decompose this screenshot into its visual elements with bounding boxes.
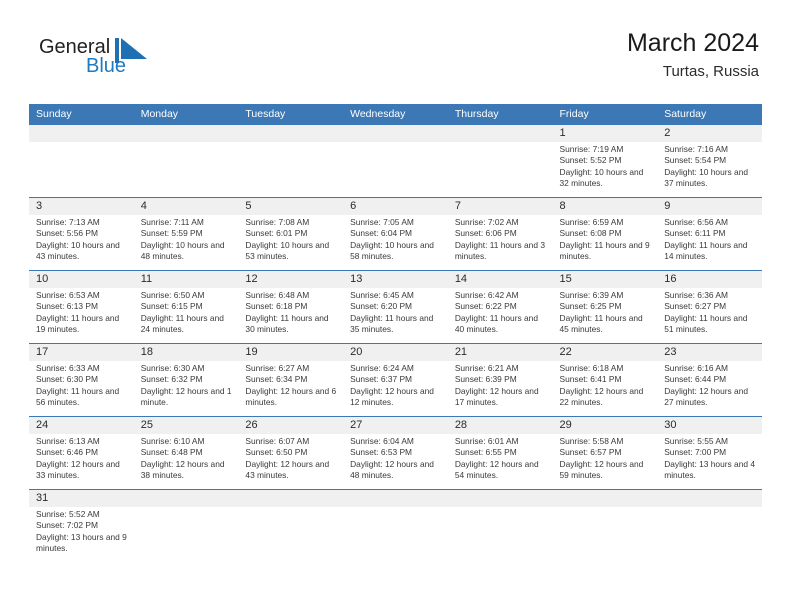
weekday-header-thursday: Thursday — [448, 104, 553, 125]
triangle-flag-icon — [115, 38, 151, 63]
day-cell-30: Sunrise: 5:55 AMSunset: 7:00 PMDaylight:… — [657, 434, 762, 489]
day-number-7[interactable]: 7 — [448, 198, 553, 215]
sunset-text: Sunset: 6:34 PM — [245, 374, 338, 385]
daylight-text: Daylight: 11 hours and 24 minutes. — [141, 313, 234, 336]
day-number-1[interactable]: 1 — [553, 125, 658, 142]
day-cell-24: Sunrise: 6:13 AMSunset: 6:46 PMDaylight:… — [29, 434, 134, 489]
day-detail-band: Sunrise: 6:53 AMSunset: 6:13 PMDaylight:… — [29, 288, 762, 343]
day-number-13[interactable]: 13 — [343, 271, 448, 288]
daylight-text: Daylight: 13 hours and 4 minutes. — [664, 459, 757, 482]
calendar-week-row: 12Sunrise: 7:19 AMSunset: 5:52 PMDayligh… — [29, 125, 762, 197]
day-cell-15: Sunrise: 6:39 AMSunset: 6:25 PMDaylight:… — [553, 288, 658, 343]
sunrise-text: Sunrise: 6:53 AM — [36, 290, 129, 301]
sunrise-text: Sunrise: 6:42 AM — [455, 290, 548, 301]
sunset-text: Sunset: 6:13 PM — [36, 301, 129, 312]
daylight-text: Daylight: 12 hours and 33 minutes. — [36, 459, 129, 482]
calendar-weeks: 12Sunrise: 7:19 AMSunset: 5:52 PMDayligh… — [29, 125, 762, 562]
daylight-text: Daylight: 12 hours and 48 minutes. — [350, 459, 443, 482]
day-cell-13: Sunrise: 6:45 AMSunset: 6:20 PMDaylight:… — [343, 288, 448, 343]
day-number-band: 10111213141516 — [29, 271, 762, 288]
day-cell-28: Sunrise: 6:01 AMSunset: 6:55 PMDaylight:… — [448, 434, 553, 489]
sunrise-text: Sunrise: 6:36 AM — [664, 290, 757, 301]
daylight-text: Daylight: 11 hours and 45 minutes. — [560, 313, 653, 336]
daylight-text: Daylight: 11 hours and 51 minutes. — [664, 313, 757, 336]
sunrise-text: Sunrise: 6:30 AM — [141, 363, 234, 374]
daylight-text: Daylight: 12 hours and 38 minutes. — [141, 459, 234, 482]
daylight-text: Daylight: 11 hours and 40 minutes. — [455, 313, 548, 336]
day-detail-band: Sunrise: 6:33 AMSunset: 6:30 PMDaylight:… — [29, 361, 762, 416]
daylight-text: Daylight: 13 hours and 9 minutes. — [36, 532, 129, 555]
daylight-text: Daylight: 11 hours and 19 minutes. — [36, 313, 129, 336]
day-cell-1: Sunrise: 7:19 AMSunset: 5:52 PMDaylight:… — [553, 142, 658, 197]
day-number-28[interactable]: 28 — [448, 417, 553, 434]
daylight-text: Daylight: 12 hours and 22 minutes. — [560, 386, 653, 409]
day-number-23[interactable]: 23 — [657, 344, 762, 361]
day-detail-band: Sunrise: 7:13 AMSunset: 5:56 PMDaylight:… — [29, 215, 762, 270]
location-label: Turtas, Russia — [627, 62, 759, 82]
day-cell-9: Sunrise: 6:56 AMSunset: 6:11 PMDaylight:… — [657, 215, 762, 270]
weekday-header-tuesday: Tuesday — [238, 104, 343, 125]
day-cell-25: Sunrise: 6:10 AMSunset: 6:48 PMDaylight:… — [134, 434, 239, 489]
day-number-11[interactable]: 11 — [134, 271, 239, 288]
day-number-22[interactable]: 22 — [553, 344, 658, 361]
weekday-header-sunday: Sunday — [29, 104, 134, 125]
calendar-grid: SundayMondayTuesdayWednesdayThursdayFrid… — [29, 104, 762, 562]
daylight-text: Daylight: 10 hours and 32 minutes. — [560, 167, 653, 190]
day-cell-19: Sunrise: 6:27 AMSunset: 6:34 PMDaylight:… — [238, 361, 343, 416]
day-cell-11: Sunrise: 6:50 AMSunset: 6:15 PMDaylight:… — [134, 288, 239, 343]
day-cell-26: Sunrise: 6:07 AMSunset: 6:50 PMDaylight:… — [238, 434, 343, 489]
sunset-text: Sunset: 6:20 PM — [350, 301, 443, 312]
sunset-text: Sunset: 6:50 PM — [245, 447, 338, 458]
day-number-3[interactable]: 3 — [29, 198, 134, 215]
day-cell-14: Sunrise: 6:42 AMSunset: 6:22 PMDaylight:… — [448, 288, 553, 343]
day-number-6[interactable]: 6 — [343, 198, 448, 215]
sunset-text: Sunset: 6:01 PM — [245, 228, 338, 239]
sunrise-text: Sunrise: 6:21 AM — [455, 363, 548, 374]
day-number-band: 12 — [29, 125, 762, 142]
daylight-text: Daylight: 11 hours and 3 minutes. — [455, 240, 548, 263]
sunset-text: Sunset: 6:11 PM — [664, 228, 757, 239]
page-header: General Blue March 2024 Turtas, Russia — [29, 28, 759, 96]
day-number-24[interactable]: 24 — [29, 417, 134, 434]
daylight-text: Daylight: 12 hours and 17 minutes. — [455, 386, 548, 409]
sunrise-text: Sunrise: 6:01 AM — [455, 436, 548, 447]
weekday-header-wednesday: Wednesday — [343, 104, 448, 125]
sunset-text: Sunset: 6:41 PM — [560, 374, 653, 385]
sunrise-text: Sunrise: 6:50 AM — [141, 290, 234, 301]
calendar-week-row: 10111213141516Sunrise: 6:53 AMSunset: 6:… — [29, 270, 762, 343]
day-number-19[interactable]: 19 — [238, 344, 343, 361]
sunset-text: Sunset: 5:52 PM — [560, 155, 653, 166]
day-cell-4: Sunrise: 7:11 AMSunset: 5:59 PMDaylight:… — [134, 215, 239, 270]
sunrise-text: Sunrise: 7:05 AM — [350, 217, 443, 228]
sunrise-text: Sunrise: 7:19 AM — [560, 144, 653, 155]
sunrise-text: Sunrise: 6:16 AM — [664, 363, 757, 374]
weekday-header-saturday: Saturday — [657, 104, 762, 125]
sunrise-text: Sunrise: 7:02 AM — [455, 217, 548, 228]
day-cell-27: Sunrise: 6:04 AMSunset: 6:53 PMDaylight:… — [343, 434, 448, 489]
day-number-2[interactable]: 2 — [657, 125, 762, 142]
daylight-text: Daylight: 12 hours and 12 minutes. — [350, 386, 443, 409]
daylight-text: Daylight: 12 hours and 59 minutes. — [560, 459, 653, 482]
day-cell-23: Sunrise: 6:16 AMSunset: 6:44 PMDaylight:… — [657, 361, 762, 416]
day-number-15[interactable]: 15 — [553, 271, 658, 288]
day-number-12[interactable]: 12 — [238, 271, 343, 288]
daylight-text: Daylight: 11 hours and 9 minutes. — [560, 240, 653, 263]
sunset-text: Sunset: 6:08 PM — [560, 228, 653, 239]
sunset-text: Sunset: 6:48 PM — [141, 447, 234, 458]
daylight-text: Daylight: 11 hours and 14 minutes. — [664, 240, 757, 263]
day-cell-18: Sunrise: 6:30 AMSunset: 6:32 PMDaylight:… — [134, 361, 239, 416]
day-number-27[interactable]: 27 — [343, 417, 448, 434]
day-number-18[interactable]: 18 — [134, 344, 239, 361]
daylight-text: Daylight: 11 hours and 56 minutes. — [36, 386, 129, 409]
sunset-text: Sunset: 5:54 PM — [664, 155, 757, 166]
sunset-text: Sunset: 6:37 PM — [350, 374, 443, 385]
daylight-text: Daylight: 10 hours and 37 minutes. — [664, 167, 757, 190]
day-cell-29: Sunrise: 5:58 AMSunset: 6:57 PMDaylight:… — [553, 434, 658, 489]
day-number-31[interactable]: 31 — [29, 490, 134, 507]
daylight-text: Daylight: 12 hours and 1 minute. — [141, 386, 234, 409]
day-cell-5: Sunrise: 7:08 AMSunset: 6:01 PMDaylight:… — [238, 215, 343, 270]
sunrise-text: Sunrise: 7:08 AM — [245, 217, 338, 228]
day-cell-22: Sunrise: 6:18 AMSunset: 6:41 PMDaylight:… — [553, 361, 658, 416]
sunset-text: Sunset: 5:56 PM — [36, 228, 129, 239]
sunset-text: Sunset: 6:27 PM — [664, 301, 757, 312]
day-cell-12: Sunrise: 6:48 AMSunset: 6:18 PMDaylight:… — [238, 288, 343, 343]
sunset-text: Sunset: 6:53 PM — [350, 447, 443, 458]
sunset-text: Sunset: 6:39 PM — [455, 374, 548, 385]
day-cell-3: Sunrise: 7:13 AMSunset: 5:56 PMDaylight:… — [29, 215, 134, 270]
daylight-text: Daylight: 11 hours and 30 minutes. — [245, 313, 338, 336]
day-number-5[interactable]: 5 — [238, 198, 343, 215]
day-number-band: 31 — [29, 490, 762, 507]
day-number-29[interactable]: 29 — [553, 417, 658, 434]
sunrise-text: Sunrise: 6:04 AM — [350, 436, 443, 447]
day-cell-8: Sunrise: 6:59 AMSunset: 6:08 PMDaylight:… — [553, 215, 658, 270]
day-number-4[interactable]: 4 — [134, 198, 239, 215]
sunrise-text: Sunrise: 7:13 AM — [36, 217, 129, 228]
day-number-21[interactable]: 21 — [448, 344, 553, 361]
calendar-page: General Blue March 2024 Turtas, Russia S… — [0, 0, 792, 612]
daylight-text: Daylight: 12 hours and 6 minutes. — [245, 386, 338, 409]
day-number-16[interactable]: 16 — [657, 271, 762, 288]
sunset-text: Sunset: 6:46 PM — [36, 447, 129, 458]
day-cell-10: Sunrise: 6:53 AMSunset: 6:13 PMDaylight:… — [29, 288, 134, 343]
calendar-week-row: 24252627282930Sunrise: 6:13 AMSunset: 6:… — [29, 416, 762, 489]
day-detail-band: Sunrise: 7:19 AMSunset: 5:52 PMDaylight:… — [29, 142, 762, 197]
sunrise-text: Sunrise: 6:59 AM — [560, 217, 653, 228]
sunrise-text: Sunrise: 5:55 AM — [664, 436, 757, 447]
sunset-text: Sunset: 6:18 PM — [245, 301, 338, 312]
day-cell-21: Sunrise: 6:21 AMSunset: 6:39 PMDaylight:… — [448, 361, 553, 416]
sunset-text: Sunset: 5:59 PM — [141, 228, 234, 239]
sunset-text: Sunset: 6:32 PM — [141, 374, 234, 385]
day-cell-31: Sunrise: 5:52 AMSunset: 7:02 PMDaylight:… — [29, 507, 134, 562]
day-cell-16: Sunrise: 6:36 AMSunset: 6:27 PMDaylight:… — [657, 288, 762, 343]
sunset-text: Sunset: 6:44 PM — [664, 374, 757, 385]
sunset-text: Sunset: 7:00 PM — [664, 447, 757, 458]
sunset-text: Sunset: 6:06 PM — [455, 228, 548, 239]
sunrise-text: Sunrise: 6:07 AM — [245, 436, 338, 447]
day-number-8[interactable]: 8 — [553, 198, 658, 215]
day-number-17[interactable]: 17 — [29, 344, 134, 361]
day-cell-20: Sunrise: 6:24 AMSunset: 6:37 PMDaylight:… — [343, 361, 448, 416]
day-number-band: 17181920212223 — [29, 344, 762, 361]
sunrise-text: Sunrise: 7:11 AM — [141, 217, 234, 228]
sunrise-text: Sunrise: 5:58 AM — [560, 436, 653, 447]
sunrise-text: Sunrise: 6:24 AM — [350, 363, 443, 374]
weekday-header-friday: Friday — [553, 104, 658, 125]
sunrise-text: Sunrise: 7:16 AM — [664, 144, 757, 155]
sunrise-text: Sunrise: 6:13 AM — [36, 436, 129, 447]
sunset-text: Sunset: 6:22 PM — [455, 301, 548, 312]
day-cell-2: Sunrise: 7:16 AMSunset: 5:54 PMDaylight:… — [657, 142, 762, 197]
sunset-text: Sunset: 6:55 PM — [455, 447, 548, 458]
daylight-text: Daylight: 12 hours and 27 minutes. — [664, 386, 757, 409]
sunset-text: Sunset: 6:30 PM — [36, 374, 129, 385]
day-detail-band: Sunrise: 6:13 AMSunset: 6:46 PMDaylight:… — [29, 434, 762, 489]
day-cell-7: Sunrise: 7:02 AMSunset: 6:06 PMDaylight:… — [448, 215, 553, 270]
sunset-text: Sunset: 6:04 PM — [350, 228, 443, 239]
sunrise-text: Sunrise: 6:18 AM — [560, 363, 653, 374]
title-block: March 2024 Turtas, Russia — [627, 28, 759, 82]
day-number-band: 3456789 — [29, 198, 762, 215]
sunrise-text: Sunrise: 6:33 AM — [36, 363, 129, 374]
sunrise-text: Sunrise: 6:45 AM — [350, 290, 443, 301]
day-cell-17: Sunrise: 6:33 AMSunset: 6:30 PMDaylight:… — [29, 361, 134, 416]
weekday-header-row: SundayMondayTuesdayWednesdayThursdayFrid… — [29, 104, 762, 125]
sunset-text: Sunset: 6:57 PM — [560, 447, 653, 458]
calendar-week-row: 17181920212223Sunrise: 6:33 AMSunset: 6:… — [29, 343, 762, 416]
sunset-text: Sunset: 6:25 PM — [560, 301, 653, 312]
sunset-text: Sunset: 7:02 PM — [36, 520, 129, 531]
daylight-text: Daylight: 10 hours and 58 minutes. — [350, 240, 443, 263]
daylight-text: Daylight: 11 hours and 35 minutes. — [350, 313, 443, 336]
day-number-25[interactable]: 25 — [134, 417, 239, 434]
sunrise-text: Sunrise: 6:10 AM — [141, 436, 234, 447]
day-cell-6: Sunrise: 7:05 AMSunset: 6:04 PMDaylight:… — [343, 215, 448, 270]
day-number-26[interactable]: 26 — [238, 417, 343, 434]
daylight-text: Daylight: 10 hours and 48 minutes. — [141, 240, 234, 263]
day-detail-band: Sunrise: 5:52 AMSunset: 7:02 PMDaylight:… — [29, 507, 762, 562]
weekday-header-monday: Monday — [134, 104, 239, 125]
day-number-14[interactable]: 14 — [448, 271, 553, 288]
daylight-text: Daylight: 10 hours and 53 minutes. — [245, 240, 338, 263]
calendar-week-row: 31Sunrise: 5:52 AMSunset: 7:02 PMDayligh… — [29, 489, 762, 562]
sunrise-text: Sunrise: 5:52 AM — [36, 509, 129, 520]
day-number-20[interactable]: 20 — [343, 344, 448, 361]
calendar-week-row: 3456789Sunrise: 7:13 AMSunset: 5:56 PMDa… — [29, 197, 762, 270]
day-number-band: 24252627282930 — [29, 417, 762, 434]
sunrise-text: Sunrise: 6:48 AM — [245, 290, 338, 301]
brand-logo[interactable]: General Blue — [29, 36, 209, 88]
sunset-text: Sunset: 6:15 PM — [141, 301, 234, 312]
sunrise-text: Sunrise: 6:39 AM — [560, 290, 653, 301]
daylight-text: Daylight: 12 hours and 43 minutes. — [245, 459, 338, 482]
day-number-10[interactable]: 10 — [29, 271, 134, 288]
day-number-9[interactable]: 9 — [657, 198, 762, 215]
daylight-text: Daylight: 10 hours and 43 minutes. — [36, 240, 129, 263]
day-number-30[interactable]: 30 — [657, 417, 762, 434]
sunrise-text: Sunrise: 6:56 AM — [664, 217, 757, 228]
sunrise-text: Sunrise: 6:27 AM — [245, 363, 338, 374]
daylight-text: Daylight: 12 hours and 54 minutes. — [455, 459, 548, 482]
page-title: March 2024 — [627, 28, 759, 58]
